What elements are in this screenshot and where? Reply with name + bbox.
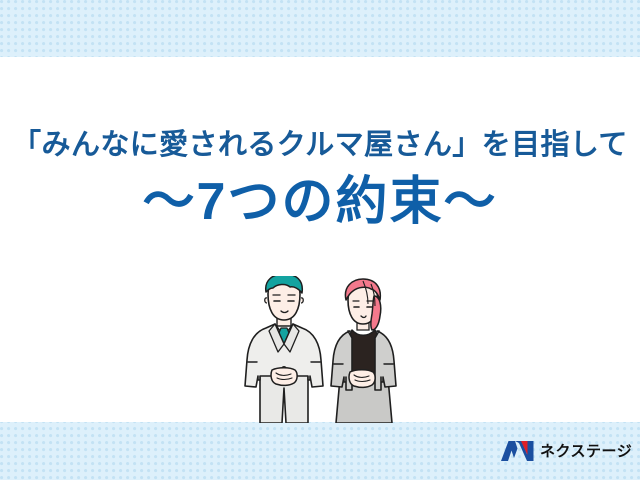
nextage-n-logo-icon	[501, 440, 534, 462]
nextage-wordmark: ネクステージ	[540, 444, 632, 459]
male-staff-figure	[245, 276, 323, 423]
headline-secondary: 〜7つの約束〜	[0, 162, 640, 230]
female-staff-figure	[331, 279, 396, 423]
nextage-logo: ネクステージ	[501, 440, 632, 462]
promo-banner: 「みんなに愛されるクルマ屋さん」を目指して 〜7つの約束〜	[0, 0, 640, 480]
headline-primary: 「みんなに愛されるクルマ屋さん」を目指して	[0, 57, 640, 162]
two-bowing-staff-illustration	[242, 276, 408, 423]
headline-block: 「みんなに愛されるクルマ屋さん」を目指して 〜7つの約束〜	[0, 57, 640, 230]
